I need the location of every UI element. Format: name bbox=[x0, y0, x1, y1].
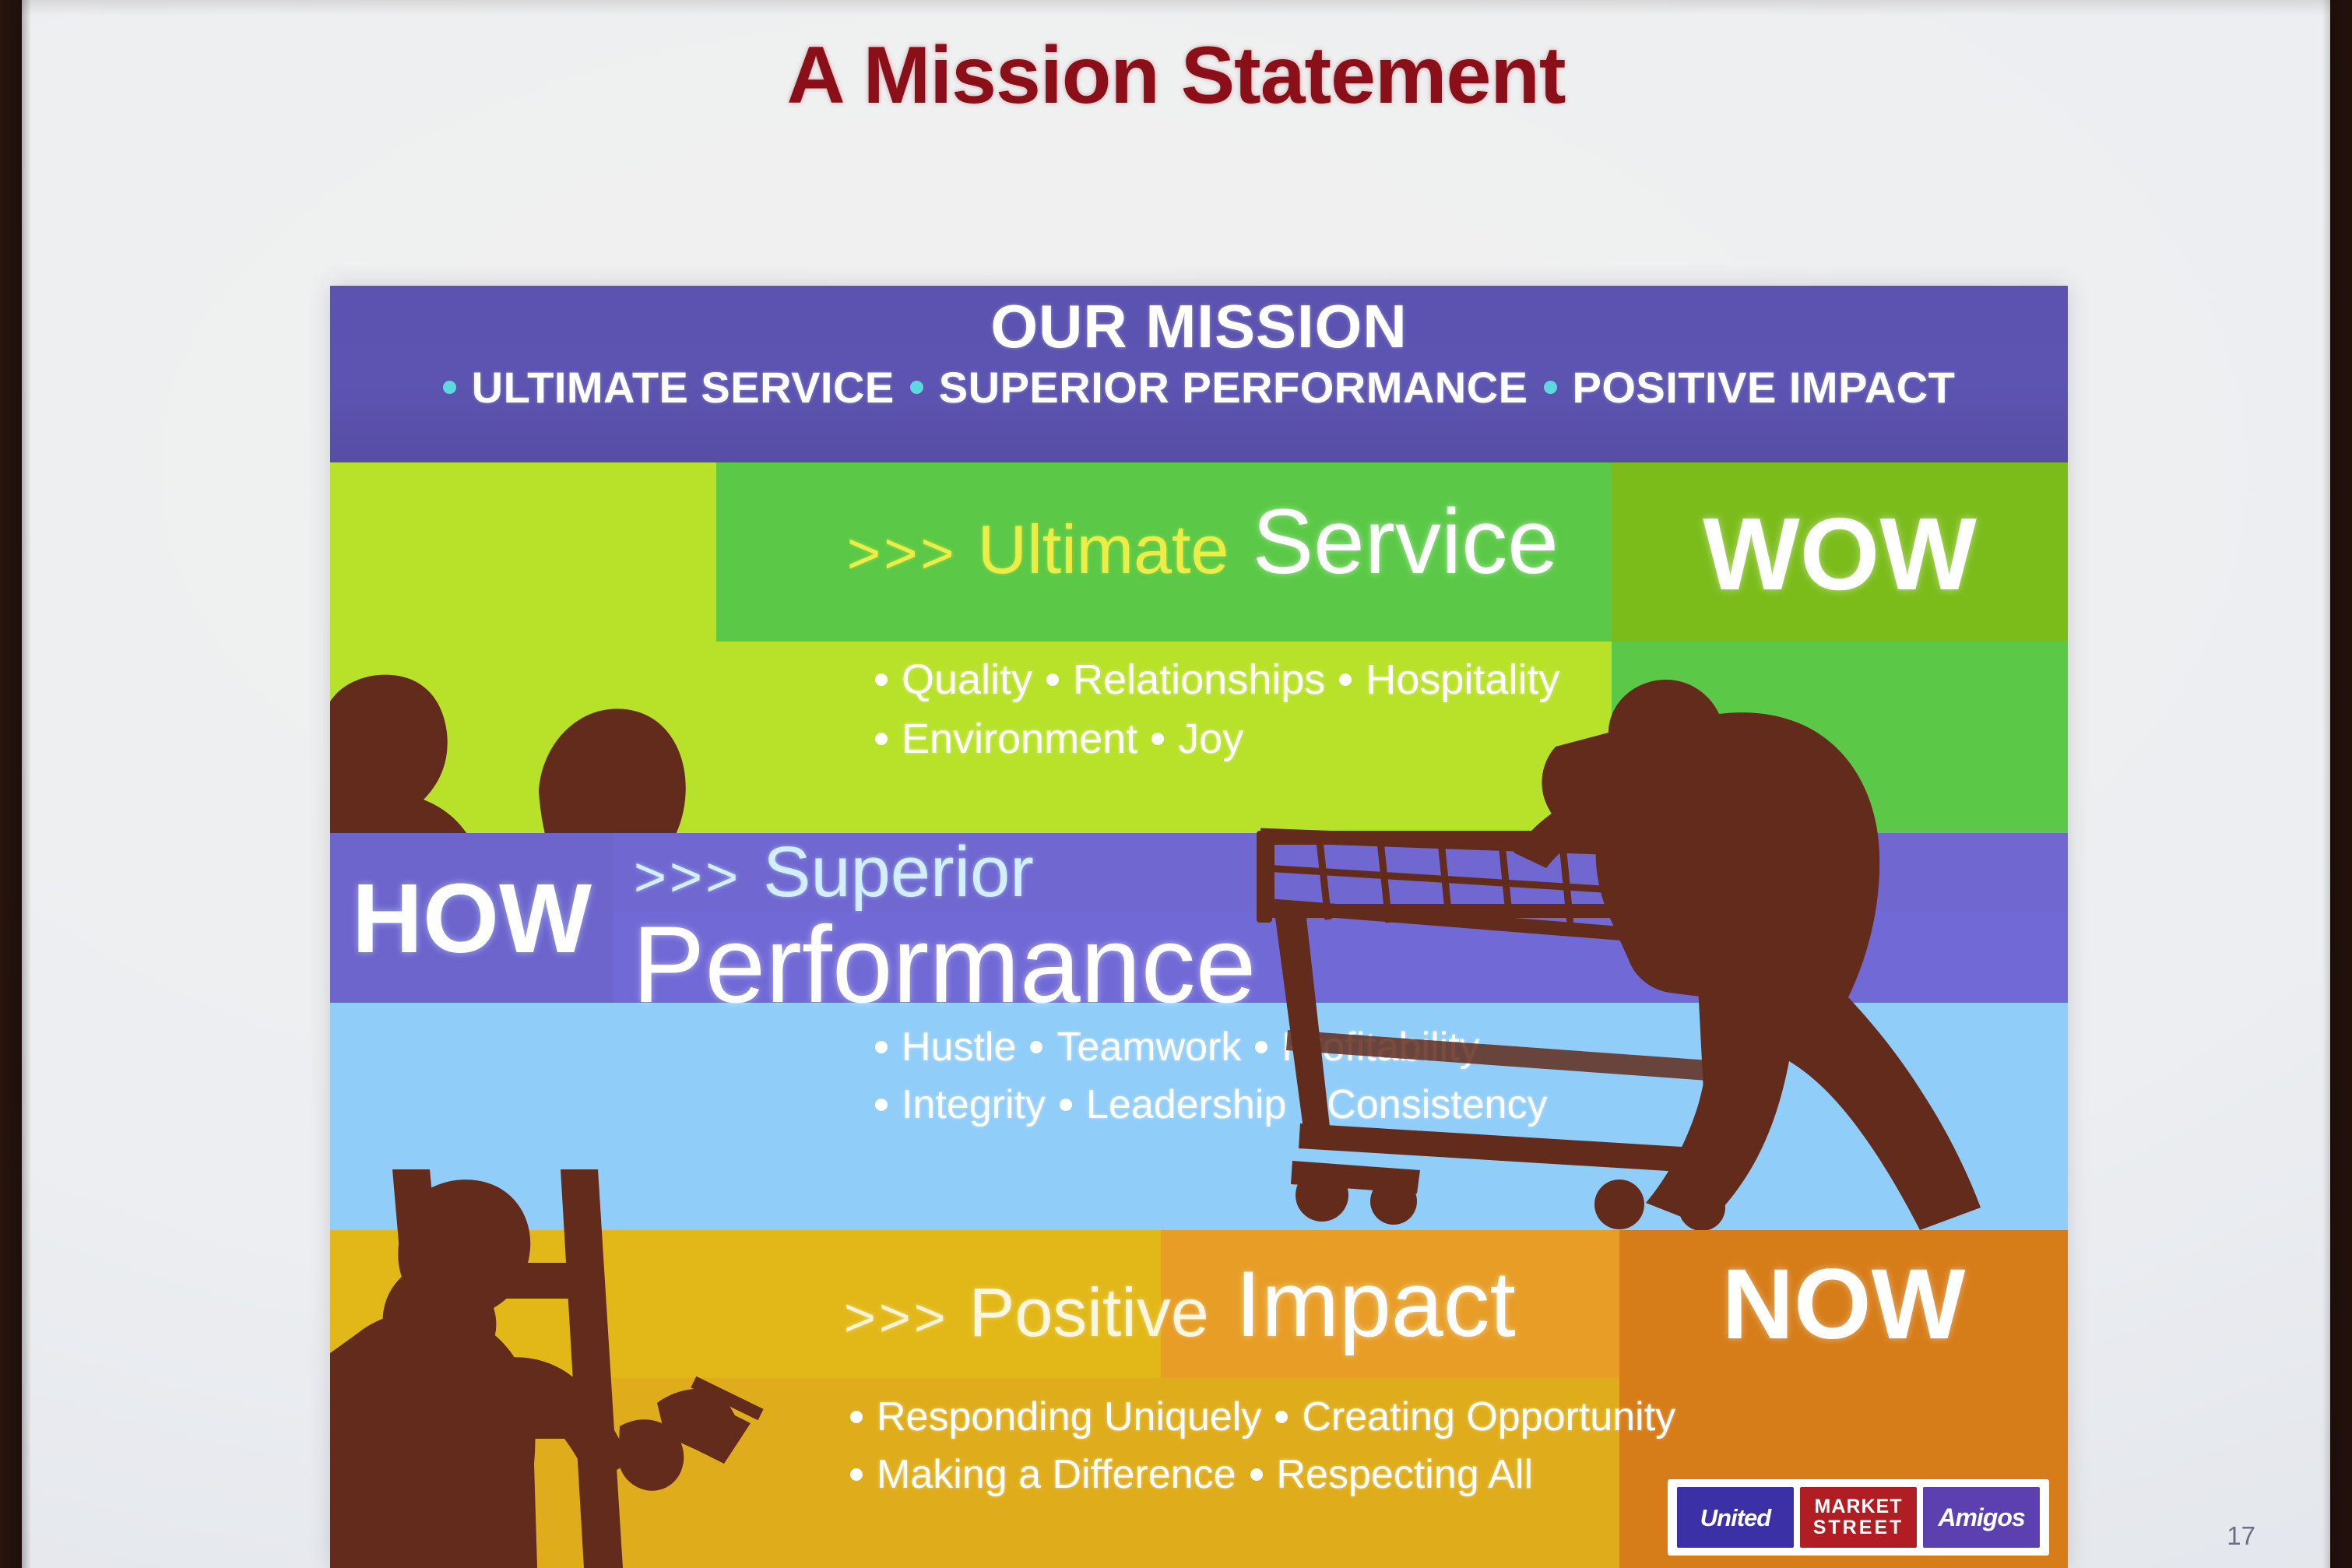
service-bullet-2: Relationships bbox=[1073, 656, 1325, 704]
impact-badge-now: NOW bbox=[1619, 1230, 2068, 1378]
bullet-dot-icon bbox=[1339, 673, 1352, 686]
projection-screen-surface: A Mission Statement 17 OUR MISSION ULTIM… bbox=[22, 0, 2330, 1568]
performance-noun-word: Performance bbox=[632, 902, 1256, 1028]
performance-bullet-1: Hustle bbox=[902, 1024, 1016, 1071]
chevron-right-icon: >>> bbox=[847, 520, 958, 586]
bullet-dot-icon bbox=[850, 1411, 863, 1423]
bullet-dot-icon bbox=[1250, 1468, 1263, 1481]
performance-badge-how: HOW bbox=[330, 833, 613, 1003]
impact-bullet-4: Respecting All bbox=[1277, 1451, 1534, 1498]
pillar-bullet-icon bbox=[443, 381, 456, 394]
service-lower-right-fill bbox=[1612, 642, 2068, 833]
list-item: Making a Difference Respecting All bbox=[850, 1451, 1675, 1498]
chevron-right-icon: >>> bbox=[634, 846, 741, 909]
impact-headline: >>> Positive Impact bbox=[844, 1250, 1516, 1358]
bullet-dot-icon bbox=[1275, 1411, 1288, 1423]
impact-bullet-list: Responding Uniquely Creating Opportunity… bbox=[850, 1394, 1675, 1498]
bullet-dot-icon bbox=[1046, 673, 1059, 686]
logo-united: United bbox=[1677, 1487, 1794, 1548]
service-bullet-list: Quality Relationships Hospitality Enviro… bbox=[875, 656, 1559, 763]
bullet-dot-icon bbox=[1030, 1041, 1042, 1053]
logo-amigos-label: Amigos bbox=[1938, 1505, 2024, 1530]
poster-header-title: OUR MISSION bbox=[330, 295, 2068, 359]
bullet-dot-icon bbox=[850, 1468, 863, 1481]
chevron-right-icon: >>> bbox=[844, 1286, 949, 1348]
brand-logo-group: United MARKET STREET Amigos bbox=[1668, 1479, 2049, 1556]
pillar-label-1: ULTIMATE SERVICE bbox=[472, 362, 895, 413]
bullet-dot-icon bbox=[875, 673, 888, 686]
logo-market-line2: STREET bbox=[1813, 1518, 1904, 1538]
poster-header-pillars: ULTIMATE SERVICE SUPERIOR PERFORMANCE PO… bbox=[330, 362, 2068, 413]
pillar-bullet-icon bbox=[1544, 381, 1557, 394]
list-item: Integrity Leadership Consistency bbox=[875, 1081, 1548, 1128]
logo-united-label: United bbox=[1700, 1506, 1770, 1530]
performance-bullet-3: Profitability bbox=[1281, 1024, 1479, 1071]
logo-amigos: Amigos bbox=[1923, 1487, 2040, 1548]
section-superior-performance: HOW >>> Superior Performance Hustle Team… bbox=[330, 833, 2068, 1230]
impact-bullet-1: Responding Uniquely bbox=[877, 1394, 1261, 1440]
section-ultimate-service: >>> Ultimate Service WOW Quality Relatio… bbox=[330, 462, 2068, 833]
bullet-dot-icon bbox=[875, 733, 888, 745]
performance-bullet-4: Integrity bbox=[902, 1081, 1046, 1128]
projected-slide-photo: A Mission Statement 17 OUR MISSION ULTIM… bbox=[0, 0, 2352, 1568]
bullet-dot-icon bbox=[1300, 1099, 1313, 1111]
service-modifier-word: Ultimate bbox=[978, 510, 1229, 589]
performance-lower-left-fill bbox=[330, 1003, 613, 1230]
bullet-dot-icon bbox=[1255, 1041, 1267, 1053]
page-title: A Mission Statement bbox=[22, 30, 2330, 122]
service-bullet-5: Joy bbox=[1178, 715, 1243, 763]
service-headline: >>> Ultimate Service bbox=[847, 489, 1559, 595]
service-noun-word: Service bbox=[1252, 489, 1558, 595]
list-item: Responding Uniquely Creating Opportunity bbox=[850, 1394, 1675, 1440]
impact-noun-word: Impact bbox=[1236, 1250, 1516, 1358]
bullet-dot-icon bbox=[875, 1041, 888, 1053]
bullet-dot-icon bbox=[875, 1099, 888, 1111]
pillar-label-2: SUPERIOR PERFORMANCE bbox=[939, 362, 1528, 413]
service-bullet-3: Hospitality bbox=[1366, 656, 1559, 704]
pillar-bullet-icon bbox=[910, 381, 923, 394]
logo-market-line1: MARKET bbox=[1815, 1497, 1903, 1517]
performance-bullet-6: Consistency bbox=[1327, 1081, 1547, 1128]
bullet-dot-icon bbox=[1060, 1099, 1072, 1111]
poster-header: OUR MISSION ULTIMATE SERVICE SUPERIOR PE… bbox=[330, 286, 2068, 462]
performance-bullet-5: Leadership bbox=[1086, 1081, 1286, 1128]
slide-page-number: 17 bbox=[2227, 1521, 2255, 1551]
service-bullet-1: Quality bbox=[902, 656, 1032, 704]
performance-bullet-list: Hustle Teamwork Profitability Integrity … bbox=[875, 1024, 1548, 1128]
service-badge-wow: WOW bbox=[1612, 467, 2068, 640]
impact-bullet-2: Creating Opportunity bbox=[1302, 1394, 1675, 1440]
service-bullet-4: Environment bbox=[902, 715, 1137, 763]
list-item: Quality Relationships Hospitality bbox=[875, 656, 1559, 704]
impact-modifier-word: Positive bbox=[969, 1273, 1209, 1352]
impact-bullet-3: Making a Difference bbox=[877, 1451, 1236, 1498]
bullet-dot-icon bbox=[1151, 733, 1164, 745]
mission-statement-poster: OUR MISSION ULTIMATE SERVICE SUPERIOR PE… bbox=[330, 286, 2068, 1568]
performance-bullet-2: Teamwork bbox=[1056, 1024, 1241, 1071]
logo-market-street: MARKET STREET bbox=[1800, 1487, 1917, 1548]
list-item: Environment Joy bbox=[875, 715, 1559, 763]
pillar-label-3: POSITIVE IMPACT bbox=[1573, 362, 1956, 413]
list-item: Hustle Teamwork Profitability bbox=[875, 1024, 1548, 1071]
